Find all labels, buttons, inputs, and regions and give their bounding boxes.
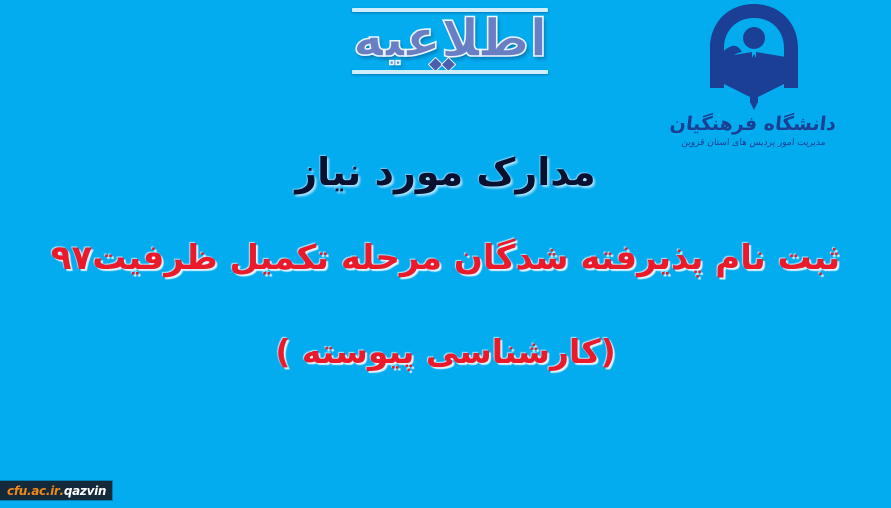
page-title: مدارک مورد نیاز [0,150,891,194]
watermark-site-name: qazvin [64,485,106,497]
announcement-banner: اطلاعیه [352,4,548,80]
farhangian-university-emblem-icon [698,2,810,112]
banner-rule-bottom [352,70,548,74]
subtitle-line-1: ثبت نام پذیرفته شدگان مرحله تکمیل ظرفیت۹… [0,238,891,278]
banner-diamond-dots-icon [430,59,456,69]
site-watermark: qazvin .cfu.ac.ir [0,481,112,500]
university-logo: دانشگاه فرهنگیان مدیریت امور پردیس های ا… [671,2,836,167]
announcement-poster: اطلاعیه دانشگاه فرهنگیان مدی [0,0,891,508]
headline-group: مدارک مورد نیاز ثبت نام پذیرفته شدگان مر… [0,150,891,371]
subtitle-line-2: (کارشناسی پیوسته ) [0,332,891,371]
watermark-site-domain: .cfu.ac.ir [7,485,64,497]
university-name: دانشگاه فرهنگیان [670,113,837,135]
university-department: مدیریت امور پردیس های استان قزوین [670,138,836,148]
